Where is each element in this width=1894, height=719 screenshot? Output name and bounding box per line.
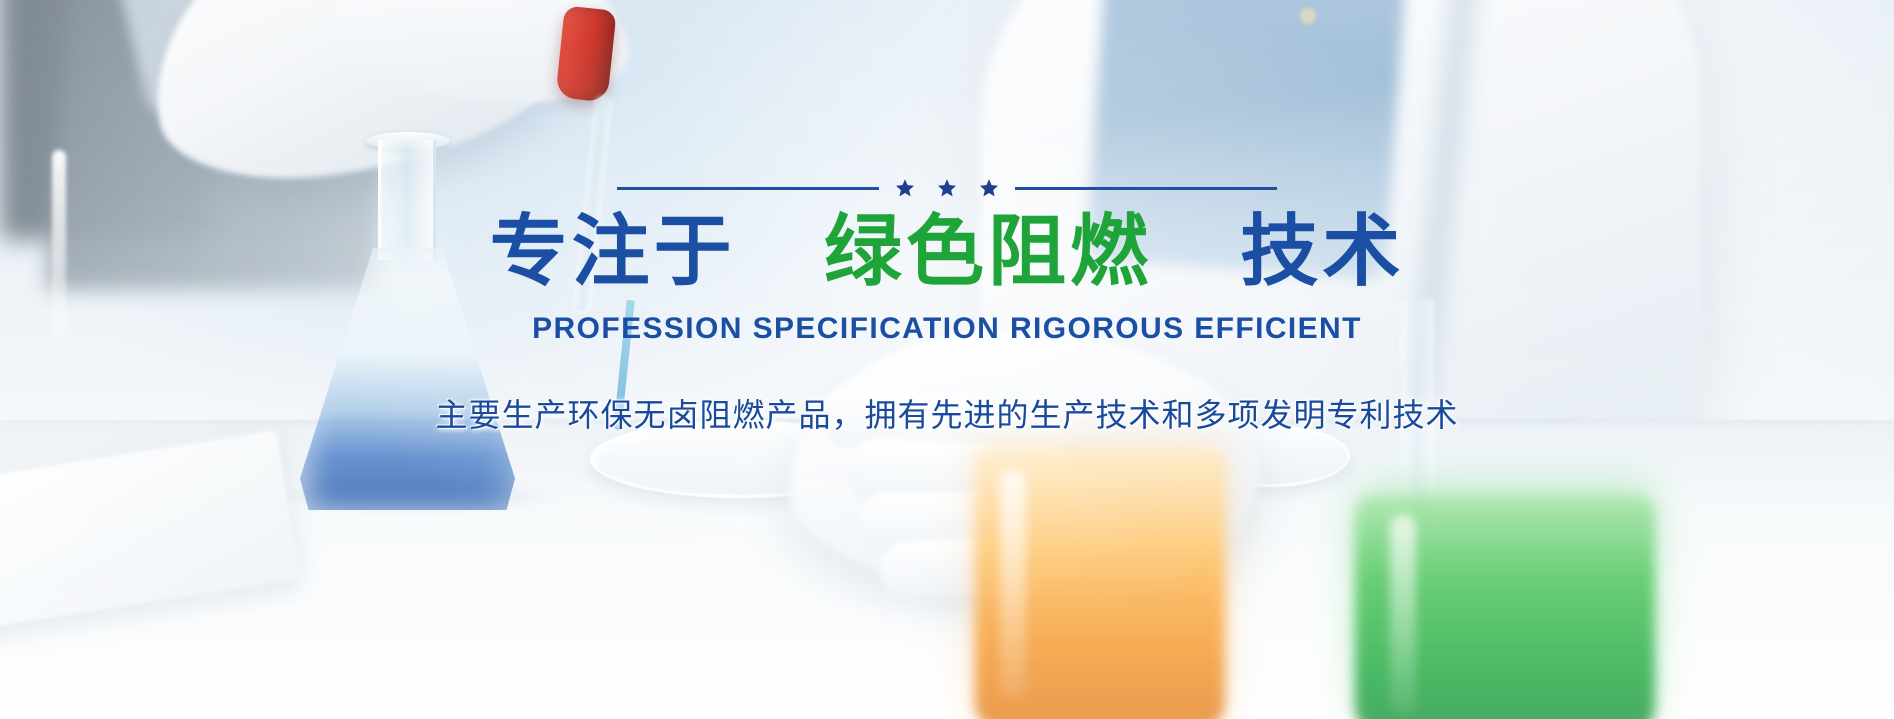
star-icon — [895, 178, 915, 198]
banner-copy: 专注于 绿色阻燃 技术 PROFESSION SPECIFICATION RIG… — [0, 0, 1894, 719]
chinese-tagline: 主要生产环保无卤阻燃产品，拥有先进的生产技术和多项发明专利技术 — [435, 390, 1458, 436]
divider-rule-right — [1015, 187, 1277, 190]
star-icon — [979, 178, 999, 198]
divider-rule-left — [617, 187, 879, 190]
decorative-divider — [617, 178, 1277, 198]
hero-banner: 专注于 绿色阻燃 技术 PROFESSION SPECIFICATION RIG… — [0, 0, 1894, 719]
headline-part-2: 绿色阻燃 — [824, 207, 1152, 297]
english-subtitle: PROFESSION SPECIFICATION RIGOROUS EFFICI… — [532, 312, 1362, 346]
headline-part-3: 技术 — [1240, 207, 1404, 297]
page-title: 专注于 绿色阻燃 技术 — [490, 212, 1405, 294]
star-icon — [937, 178, 957, 198]
headline-part-1: 专注于 — [490, 207, 736, 297]
star-group — [895, 178, 999, 198]
